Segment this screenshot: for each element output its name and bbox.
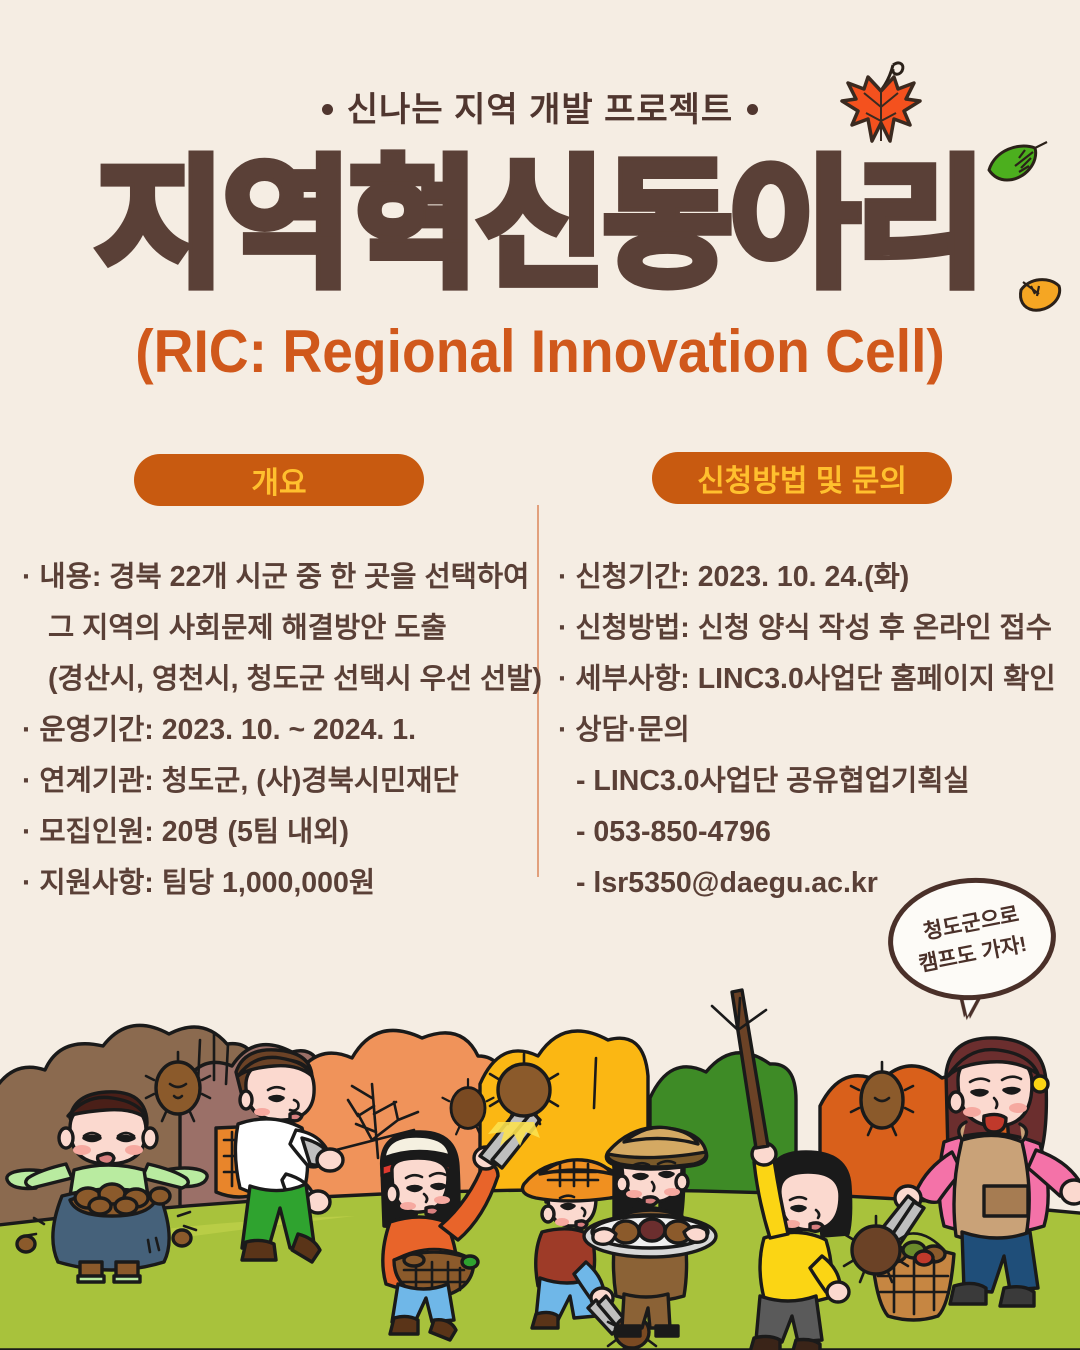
section-badge-overview: 개요 [134,454,424,506]
apply-line-3: · 상담·문의 [558,705,1063,756]
apply-line-5: - 053-850-4796 [558,807,1063,858]
bullet-dot-right [747,104,758,115]
illustration-scene: .ol{stroke:#1A1A1A;stroke-width:3.4;stro… [0,988,1080,1350]
apply-line-2: · 세부사항: LINC3.0사업단 홈페이지 확인 [558,654,1063,705]
tagline: 신나는 지역 개발 프로젝트 [0,82,1080,131]
bullet-dot-left [322,104,333,115]
apply-content: · 신청기간: 2023. 10. 24.(화)· 신청방법: 신청 양식 작성… [558,552,1063,909]
overview-content: · 내용: 경북 22개 시군 중 한 곳을 선택하여그 지역의 사회문제 해결… [22,552,532,909]
page-subtitle: (RIC: Regional Innovation Cell) [43,318,1037,386]
apply-line-1: · 신청방법: 신청 양식 작성 후 온라인 접수 [558,603,1063,654]
apply-line-0: · 신청기간: 2023. 10. 24.(화) [558,552,1063,603]
overview-line-6: · 지원사항: 팀당 1,000,000원 [22,858,532,909]
overview-line-2: (경산시, 영천시, 청도군 선택시 우선 선발) [22,654,532,705]
overview-line-3: · 운영기간: 2023. 10. ~ 2024. 1. [22,705,532,756]
overview-line-1: 그 지역의 사회문제 해결방안 도출 [22,603,532,654]
overview-line-5: · 모집인원: 20명 (5팀 내외) [22,807,532,858]
page-title: 지역혁신동아리 [0,150,1080,300]
section-badge-apply: 신청방법 및 문의 [652,452,952,504]
overview-line-4: · 연계기관: 청도군, (사)경북시민재단 [22,756,532,807]
overview-line-0: · 내용: 경북 22개 시군 중 한 곳을 선택하여 [22,552,532,603]
poster-root: 신나는 지역 개발 프로젝트 지역혁신동아리 (RIC: Regional In… [0,0,1080,1350]
tagline-text: 신나는 지역 개발 프로젝트 [347,91,733,129]
apply-line-4: - LINC3.0사업단 공유협업기획실 [558,756,1063,807]
